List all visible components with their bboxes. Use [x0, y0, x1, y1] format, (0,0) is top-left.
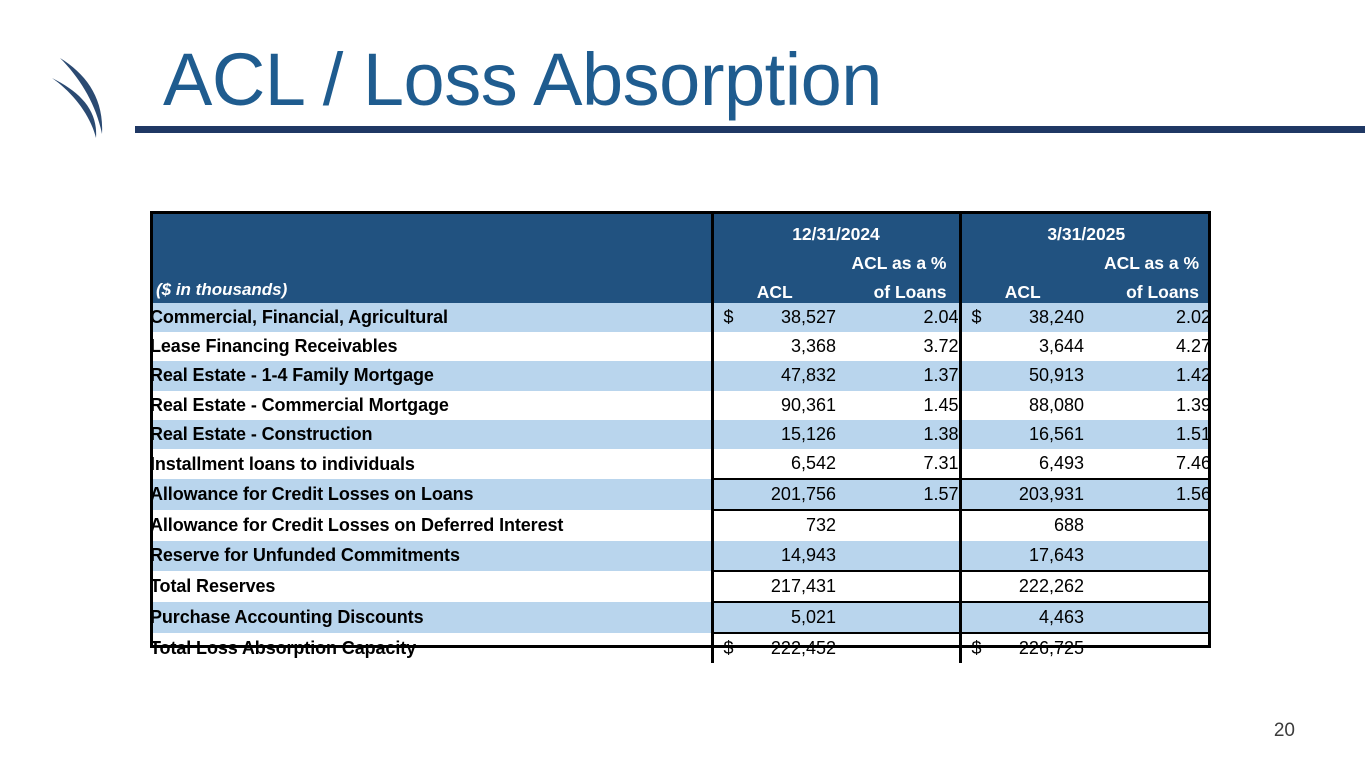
- table-row: Total Reserves217,431222,262: [150, 571, 1211, 602]
- acl-value-period-2: 688: [960, 510, 1084, 540]
- header-of-loans-p2: of Loans: [1084, 274, 1211, 303]
- acl-value-period-1: 90,361: [712, 391, 836, 420]
- acl-pct-period-2-text: 2.02: [1084, 307, 1211, 328]
- acl-value-period-2: 203,931: [960, 479, 1084, 510]
- table-row: Commercial, Financial, Agricultural$38,5…: [150, 303, 1211, 332]
- acl-value-period-1: $222,452: [712, 633, 836, 663]
- table-header-row-sub1: ACL as a % ACL as a %: [150, 247, 1211, 274]
- acl-value-period-1-text: 732: [714, 515, 837, 536]
- acl-value-period-2: 3,644: [960, 332, 1084, 361]
- acl-value-period-1: 732: [712, 510, 836, 540]
- table-row: Lease Financing Receivables3,3683.723,64…: [150, 332, 1211, 361]
- acl-table: 12/31/2024 3/31/2025 ACL as a % ACL as a…: [150, 211, 1211, 663]
- acl-pct-period-1: [836, 510, 960, 540]
- acl-pct-period-1-text: 7.31: [836, 453, 959, 474]
- table-row: Real Estate - Construction15,1261.3816,5…: [150, 420, 1211, 449]
- header-blank-acl-2: [960, 247, 1084, 274]
- acl-pct-period-1-text: 1.38: [836, 424, 959, 445]
- acl-pct-period-2: [1084, 571, 1211, 602]
- row-label: Reserve for Unfunded Commitments: [150, 541, 712, 571]
- acl-pct-period-1: [836, 541, 960, 571]
- row-label: Total Reserves: [150, 571, 712, 602]
- acl-value-period-1-text: 222,452: [734, 638, 837, 659]
- acl-value-period-2: 50,913: [960, 361, 1084, 390]
- currency-symbol: $: [724, 634, 734, 663]
- table-head: 12/31/2024 3/31/2025 ACL as a % ACL as a…: [150, 211, 1211, 303]
- acl-value-period-2: 222,262: [960, 571, 1084, 602]
- table-row: Real Estate - 1-4 Family Mortgage47,8321…: [150, 361, 1211, 390]
- acl-pct-period-1: [836, 602, 960, 633]
- acl-value-period-1-text: 90,361: [714, 395, 837, 416]
- acl-value-period-1-text: 201,756: [714, 484, 837, 505]
- table-row: Allowance for Credit Losses on Loans201,…: [150, 479, 1211, 510]
- acl-value-period-1-text: 5,021: [714, 607, 837, 628]
- row-label: Purchase Accounting Discounts: [150, 602, 712, 633]
- acl-value-period-2: 16,561: [960, 420, 1084, 449]
- slide-header: ACL / Loss Absorption: [0, 0, 1365, 145]
- acl-pct-period-2: 1.51: [1084, 420, 1211, 449]
- acl-pct-period-2: 7.46: [1084, 449, 1211, 479]
- header-acl-pct-line1-p1: ACL as a %: [836, 247, 960, 274]
- acl-value-period-2: 17,643: [960, 541, 1084, 571]
- acl-value-period-1: 14,943: [712, 541, 836, 571]
- acl-value-period-1-text: 6,542: [714, 453, 837, 474]
- table-header-row-dates: 12/31/2024 3/31/2025: [150, 211, 1211, 247]
- currency-symbol: $: [724, 303, 734, 332]
- acl-pct-period-2-text: 1.56: [1084, 484, 1211, 505]
- acl-pct-period-1-text: 2.04: [836, 307, 959, 328]
- acl-pct-period-1: 1.37: [836, 361, 960, 390]
- header-period-2: 3/31/2025: [960, 211, 1211, 247]
- acl-value-period-2-text: 17,643: [962, 545, 1085, 566]
- acl-value-period-2-text: 88,080: [962, 395, 1085, 416]
- header-of-loans-p1: of Loans: [836, 274, 960, 303]
- acl-value-period-1-text: 38,527: [734, 307, 837, 328]
- header-units-label: ($ in thousands): [150, 274, 712, 303]
- acl-pct-period-2: [1084, 602, 1211, 633]
- acl-value-period-2: $38,240: [960, 303, 1084, 332]
- header-acl-p2: ACL: [960, 274, 1084, 303]
- acl-pct-period-1: 3.72: [836, 332, 960, 361]
- acl-pct-period-1-text: 3.72: [836, 336, 959, 357]
- acl-value-period-1: 5,021: [712, 602, 836, 633]
- acl-pct-period-2-text: 1.51: [1084, 424, 1211, 445]
- row-label: Real Estate - 1-4 Family Mortgage: [150, 361, 712, 390]
- acl-pct-period-1: [836, 571, 960, 602]
- acl-pct-period-2: 4.27: [1084, 332, 1211, 361]
- currency-symbol: $: [972, 303, 982, 332]
- table-row: Reserve for Unfunded Commitments14,94317…: [150, 541, 1211, 571]
- acl-value-period-2: 6,493: [960, 449, 1084, 479]
- table-header-row-sub2: ($ in thousands) ACL of Loans ACL of Loa…: [150, 274, 1211, 303]
- header-spacer-cell-2: [150, 247, 712, 274]
- table-row: Total Loss Absorption Capacity$222,452$2…: [150, 633, 1211, 663]
- row-label: Commercial, Financial, Agricultural: [150, 303, 712, 332]
- title-underline-rule: [135, 126, 1365, 133]
- acl-pct-period-2: 1.42: [1084, 361, 1211, 390]
- acl-pct-period-1-text: 1.57: [836, 484, 959, 505]
- acl-value-period-2-text: 38,240: [982, 307, 1085, 328]
- table-body: Commercial, Financial, Agricultural$38,5…: [150, 303, 1211, 663]
- acl-pct-period-2: [1084, 510, 1211, 540]
- acl-value-period-1-text: 47,832: [714, 365, 837, 386]
- acl-pct-period-2: 1.39: [1084, 391, 1211, 420]
- acl-pct-period-1-text: 1.37: [836, 365, 959, 386]
- acl-value-period-2-text: 6,493: [962, 453, 1085, 474]
- header-acl-pct-line1-p2: ACL as a %: [1084, 247, 1211, 274]
- row-label: Allowance for Credit Losses on Loans: [150, 479, 712, 510]
- acl-value-period-2-text: 4,463: [962, 607, 1085, 628]
- acl-pct-period-1-text: 1.45: [836, 395, 959, 416]
- acl-value-period-2-text: 203,931: [962, 484, 1085, 505]
- row-label: Installment loans to individuals: [150, 449, 712, 479]
- acl-pct-period-1: 7.31: [836, 449, 960, 479]
- acl-pct-period-1: [836, 633, 960, 663]
- acl-value-period-1: 15,126: [712, 420, 836, 449]
- acl-pct-period-2: 2.02: [1084, 303, 1211, 332]
- header-acl-p1: ACL: [712, 274, 836, 303]
- acl-loss-absorption-table: 12/31/2024 3/31/2025 ACL as a % ACL as a…: [150, 211, 1211, 663]
- acl-pct-period-1: 2.04: [836, 303, 960, 332]
- acl-value-period-2-text: 16,561: [962, 424, 1085, 445]
- acl-value-period-1-text: 3,368: [714, 336, 837, 357]
- table-row: Real Estate - Commercial Mortgage90,3611…: [150, 391, 1211, 420]
- acl-pct-period-2: [1084, 541, 1211, 571]
- header-spacer-cell: [150, 211, 712, 247]
- acl-pct-period-1: 1.45: [836, 391, 960, 420]
- acl-value-period-1-text: 15,126: [714, 424, 837, 445]
- flame-swoosh-logo-icon: [46, 48, 138, 140]
- acl-value-period-2-text: 688: [962, 515, 1085, 536]
- acl-pct-period-2-text: 4.27: [1084, 336, 1211, 357]
- row-label: Lease Financing Receivables: [150, 332, 712, 361]
- row-label: Real Estate - Construction: [150, 420, 712, 449]
- acl-value-period-1: 201,756: [712, 479, 836, 510]
- acl-pct-period-2: [1084, 633, 1211, 663]
- acl-value-period-1-text: 217,431: [714, 576, 837, 597]
- acl-value-period-2-text: 50,913: [962, 365, 1085, 386]
- table-row: Purchase Accounting Discounts5,0214,463: [150, 602, 1211, 633]
- acl-pct-period-2: 1.56: [1084, 479, 1211, 510]
- acl-value-period-2-text: 3,644: [962, 336, 1085, 357]
- row-label: Total Loss Absorption Capacity: [150, 633, 712, 663]
- page-title: ACL / Loss Absorption: [163, 38, 882, 122]
- acl-value-period-1: $38,527: [712, 303, 836, 332]
- header-blank-acl-1: [712, 247, 836, 274]
- acl-pct-period-2-text: 1.42: [1084, 365, 1211, 386]
- acl-value-period-2: 88,080: [960, 391, 1084, 420]
- acl-pct-period-1: 1.57: [836, 479, 960, 510]
- acl-value-period-1: 3,368: [712, 332, 836, 361]
- acl-pct-period-1: 1.38: [836, 420, 960, 449]
- acl-value-period-2-text: 226,725: [982, 638, 1085, 659]
- acl-value-period-2: 4,463: [960, 602, 1084, 633]
- acl-pct-period-2-text: 7.46: [1084, 453, 1211, 474]
- header-period-1: 12/31/2024: [712, 211, 960, 247]
- table-row: Allowance for Credit Losses on Deferred …: [150, 510, 1211, 540]
- row-label: Real Estate - Commercial Mortgage: [150, 391, 712, 420]
- page-number: 20: [1274, 720, 1295, 742]
- table-row: Installment loans to individuals6,5427.3…: [150, 449, 1211, 479]
- acl-value-period-1: 6,542: [712, 449, 836, 479]
- acl-value-period-2: $226,725: [960, 633, 1084, 663]
- currency-symbol: $: [972, 634, 982, 663]
- row-label: Allowance for Credit Losses on Deferred …: [150, 510, 712, 540]
- acl-value-period-1: 217,431: [712, 571, 836, 602]
- acl-value-period-2-text: 222,262: [962, 576, 1085, 597]
- acl-value-period-1-text: 14,943: [714, 545, 837, 566]
- acl-pct-period-2-text: 1.39: [1084, 395, 1211, 416]
- acl-value-period-1: 47,832: [712, 361, 836, 390]
